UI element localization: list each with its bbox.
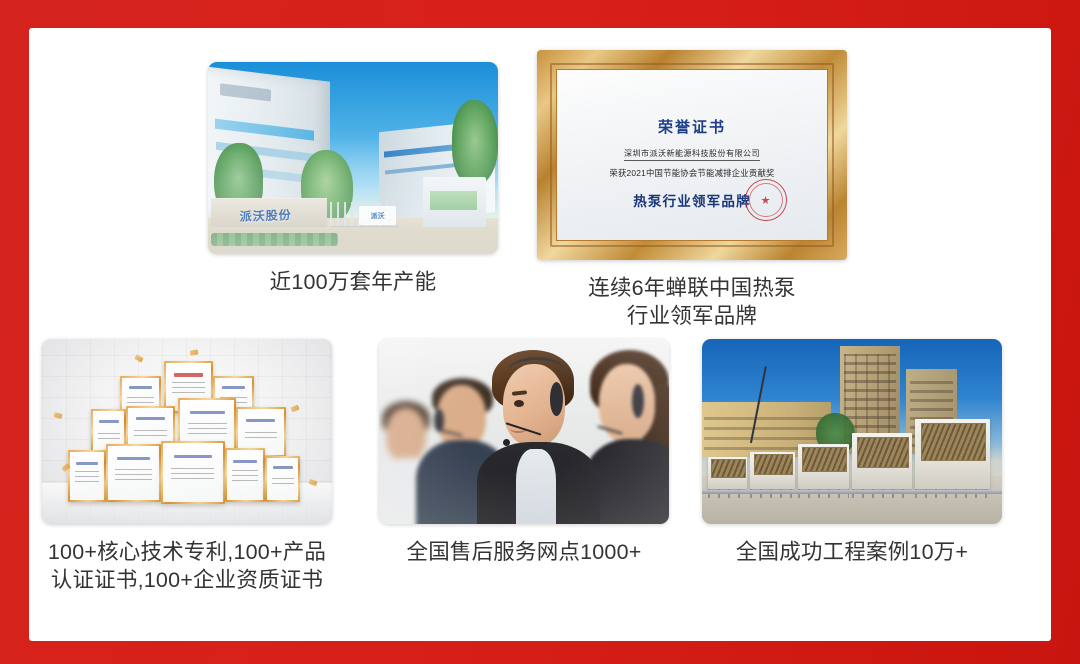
certificate-frame xyxy=(68,450,106,502)
heat-pump-unit xyxy=(798,444,849,488)
certificate-frame xyxy=(225,448,266,502)
card-projects[interactable]: 全国成功工程案例10万+ xyxy=(697,339,1007,566)
certificate-award-text: 荣获2021中国节能协会节能减排企业贡献奖 xyxy=(609,167,774,179)
honor-certificate-photo: 荣誉证书 深圳市派沃新能源科技股份有限公司 荣获2021中国节能协会节能减排企业… xyxy=(537,50,847,260)
card-patents[interactable]: 100+核心技术专利,100+产品 认证证书,100+企业资质证书 xyxy=(37,339,337,595)
photo-haze-overlay xyxy=(208,62,498,254)
card-caption-patents: 100+核心技术专利,100+产品 认证证书,100+企业资质证书 xyxy=(48,538,326,595)
factory-exterior-photo: 派沃股份 派沃 xyxy=(208,62,498,254)
card-caption-capacity: 近100万套年产能 xyxy=(270,268,437,296)
certificate-frame xyxy=(106,444,161,501)
call-center-agents-photo xyxy=(379,339,669,524)
confetti-icon xyxy=(53,412,62,419)
card-capacity[interactable]: 派沃股份 派沃 近100万套年产能 xyxy=(203,62,503,296)
top-row: 派沃股份 派沃 近100万套年产能 荣誉证书 深圳市派沃新能源科技股份有限公司 … xyxy=(29,28,1051,303)
confetti-icon xyxy=(291,404,300,412)
heat-pump-unit xyxy=(708,457,747,488)
white-content-panel: 派沃股份 派沃 近100万套年产能 荣誉证书 深圳市派沃新能源科技股份有限公司 … xyxy=(29,28,1051,641)
certificate-paper: 荣誉证书 深圳市派沃新能源科技股份有限公司 荣获2021中国节能协会节能减排企业… xyxy=(556,69,828,241)
card-caption-projects: 全国成功工程案例10万+ xyxy=(736,538,968,566)
certificate-title: 荣誉证书 xyxy=(658,116,726,137)
certificate-company-name: 深圳市派沃新能源科技股份有限公司 xyxy=(624,148,760,161)
certificate-wall-photo xyxy=(42,339,332,524)
certificate-brand-line: 热泵行业领军品牌 xyxy=(633,190,751,210)
certificate-red-seal-icon xyxy=(745,179,787,221)
slide-root: 派沃股份 派沃 近100万套年产能 荣誉证书 深圳市派沃新能源科技股份有限公司 … xyxy=(0,0,1080,664)
bottom-row: 100+核心技术专利,100+产品 认证证书,100+企业资质证书 xyxy=(29,313,1051,633)
confetti-icon xyxy=(190,349,199,355)
heat-pump-unit xyxy=(915,419,990,489)
photo-vignette-overlay xyxy=(379,339,669,524)
confetti-icon xyxy=(134,354,143,362)
card-caption-service: 全国售后服务网点1000+ xyxy=(407,538,642,566)
heat-pump-unit xyxy=(852,433,912,489)
seal-inner-ring xyxy=(749,183,783,217)
connecting-pipework xyxy=(702,490,1002,494)
heat-pump-unit xyxy=(750,452,795,489)
heat-pump-project-photo xyxy=(702,339,1002,524)
card-brand[interactable]: 荣誉证书 深圳市派沃新能源科技股份有限公司 荣获2021中国节能协会节能减排企业… xyxy=(527,50,857,331)
certificate-frame xyxy=(265,456,300,502)
card-service[interactable]: 全国售后服务网点1000+ xyxy=(374,339,674,566)
certificate-frame xyxy=(161,441,225,504)
